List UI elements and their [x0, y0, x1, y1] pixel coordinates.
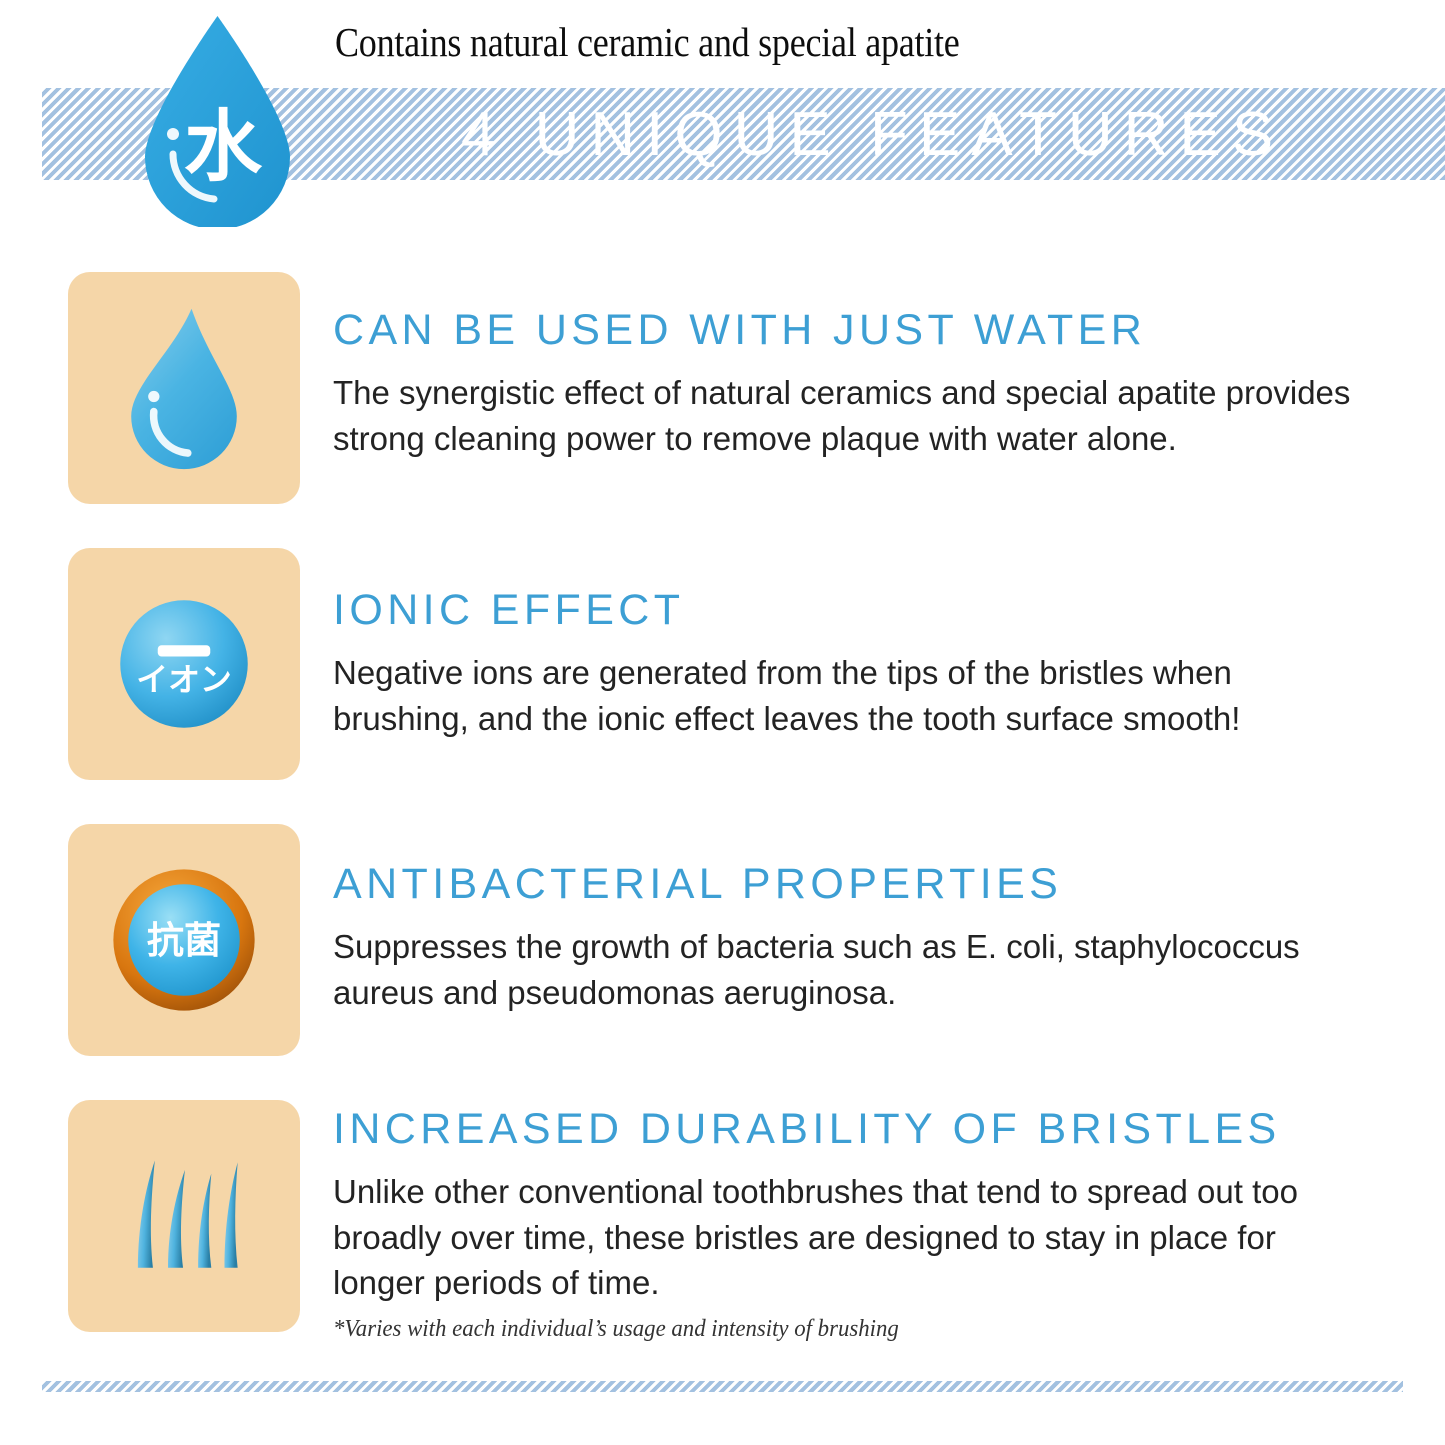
- feature-body: Negative ions are generated from the tip…: [333, 650, 1353, 741]
- feature-heading: ANTIBACTERIAL PROPERTIES: [333, 862, 1353, 907]
- feature-text: CAN BE USED WITH JUST WATER The synergis…: [333, 308, 1353, 461]
- feature-text: INCREASED DURABILITY OF BRISTLES Unlike …: [333, 1107, 1353, 1343]
- svg-text:水: 水: [184, 102, 263, 192]
- feature-body: Suppresses the growth of bacteria such a…: [333, 924, 1353, 1015]
- bottom-divider-stripe: [42, 1381, 1403, 1392]
- feature-icon-tile: イオン: [68, 548, 300, 780]
- page-title: 4 UNIQUE FEATURES: [300, 88, 1445, 180]
- feature-heading: IONIC EFFECT: [333, 588, 1353, 633]
- svg-text:抗菌: 抗菌: [147, 918, 221, 962]
- feature-text: IONIC EFFECT Negative ions are generated…: [333, 588, 1353, 741]
- feature-icon-tile: [68, 1100, 300, 1332]
- feature-footnote: *Varies with each individual’s usage and…: [333, 1316, 1302, 1343]
- feature-body: The synergistic effect of natural cerami…: [333, 370, 1353, 461]
- antibacterial-sphere-icon: 抗菌: [105, 861, 263, 1019]
- feature-icon-tile: [68, 272, 300, 504]
- negative-ion-sphere-icon: イオン: [109, 589, 259, 739]
- water-droplet-icon: [118, 302, 250, 474]
- feature-heading: CAN BE USED WITH JUST WATER: [333, 308, 1353, 353]
- svg-text:イオン: イオン: [136, 660, 232, 698]
- tagline: Contains natural ceramic and special apa…: [335, 18, 960, 66]
- bristles-icon: [104, 1136, 264, 1296]
- feature-heading: INCREASED DURABILITY OF BRISTLES: [333, 1107, 1353, 1152]
- water-droplet-kanji-icon: 水: [140, 12, 295, 227]
- feature-text: ANTIBACTERIAL PROPERTIES Suppresses the …: [333, 862, 1353, 1015]
- feature-body: Unlike other conventional toothbrushes t…: [333, 1169, 1353, 1306]
- feature-icon-tile: 抗菌: [68, 824, 300, 1056]
